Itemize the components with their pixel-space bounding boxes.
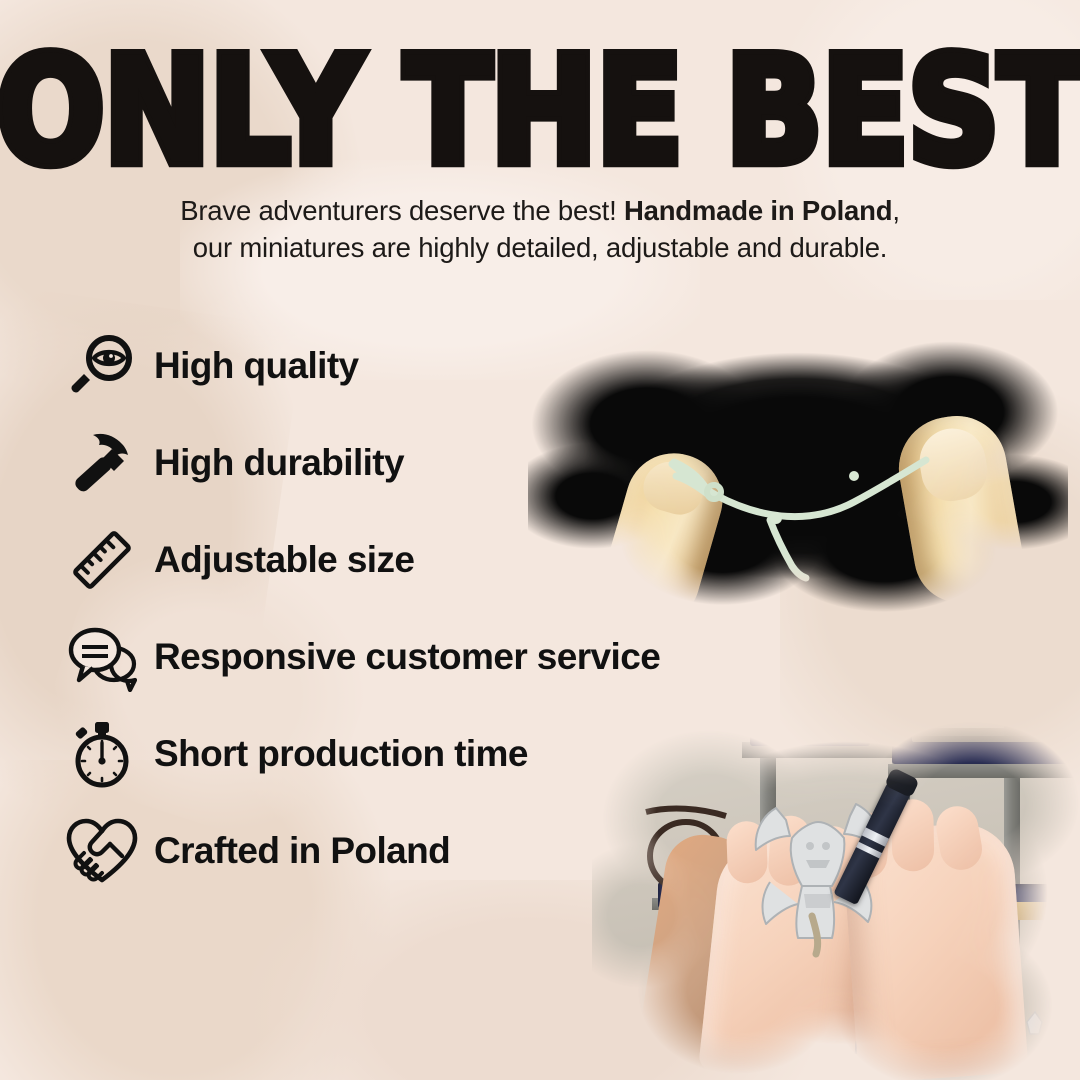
subtitle-text-before-bold: Brave adventurers deserve the best! xyxy=(180,195,624,226)
subtitle-line-1: Brave adventurers deserve the best! Hand… xyxy=(0,192,1080,229)
stopwatch-icon xyxy=(62,716,142,792)
ruler-icon xyxy=(62,522,142,598)
miniature-tray xyxy=(750,726,870,746)
poster: ONLY THE BEST Brave adventurers deserve … xyxy=(0,0,1080,1080)
hammer-icon xyxy=(62,425,142,501)
headline-container: ONLY THE BEST xyxy=(0,38,1080,163)
shelf-beam xyxy=(888,764,1080,778)
knife-band xyxy=(856,842,882,859)
magnifier-eye-icon xyxy=(62,328,142,404)
feature-label: Short production time xyxy=(154,733,528,775)
miniatures-row xyxy=(912,728,1062,742)
feature-item: High durability xyxy=(62,423,782,503)
subtitle: Brave adventurers deserve the best! Hand… xyxy=(0,192,1080,266)
heart-handshake-icon xyxy=(62,813,142,889)
feature-item: High quality xyxy=(62,326,782,406)
feature-label: Crafted in Poland xyxy=(154,830,450,872)
feature-label: High durability xyxy=(154,442,404,484)
feature-item: Adjustable size xyxy=(62,520,782,600)
feature-label: Responsive customer service xyxy=(154,636,660,678)
hands-carving-dragon-miniature-photo xyxy=(592,706,1080,1080)
page-title: ONLY THE BEST xyxy=(0,38,1080,186)
knife-band xyxy=(862,827,889,846)
small-miniature xyxy=(1022,1010,1048,1036)
feature-item: Responsive customer service xyxy=(62,617,782,697)
speech-bubbles-icon xyxy=(62,619,142,695)
feature-label: Adjustable size xyxy=(154,539,414,581)
subtitle-line-2: our miniatures are highly detailed, adju… xyxy=(0,229,1080,266)
subtitle-text-after-bold: , xyxy=(892,195,899,226)
feature-label: High quality xyxy=(154,345,359,387)
subtitle-highlight: Handmade in Poland xyxy=(624,195,892,226)
